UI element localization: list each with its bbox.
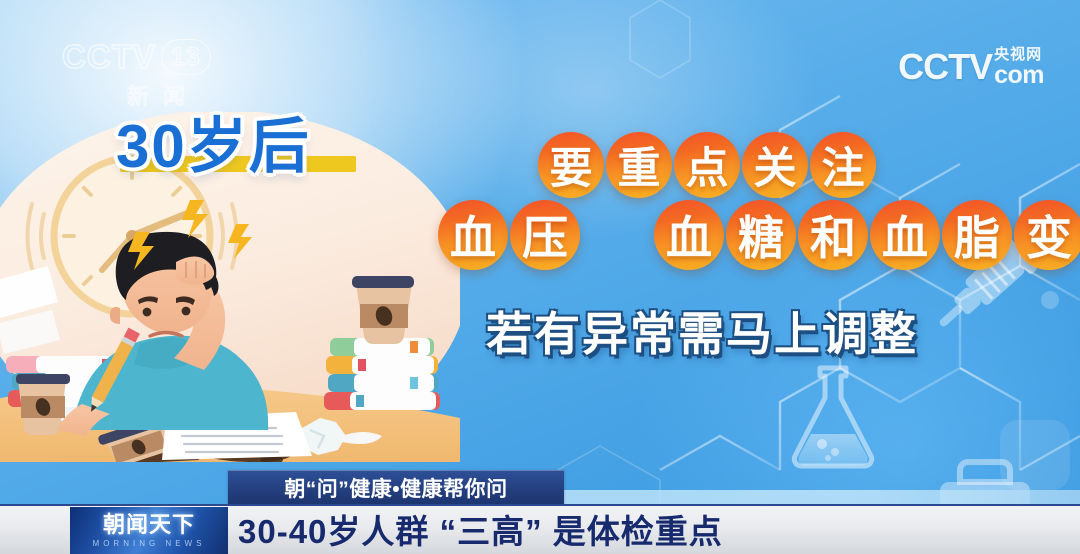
headline-char: 要 [538,132,604,198]
accent-square [1000,420,1070,490]
headline-char-text: 和 [810,202,856,268]
program-logo: 朝闻天下 MORNING NEWS [70,507,228,554]
headline-line2: 血压 血糖和血脂变化 [438,200,1080,270]
watermark-cn-text: 央视网 [994,47,1044,62]
headline-char-text: 压 [522,202,568,268]
cctv13-bug-number: 13 [161,39,211,75]
headline-char-text: 变 [1026,202,1072,268]
headline-char: 血 [438,200,508,270]
headline-char-text: 要 [550,134,593,196]
broadcast-screenshot: CCTV 13 新闻 CCTV 央视网 com 30岁后 要重点关注 血压 血糖… [0,0,1080,554]
headline-char: 重 [606,132,672,198]
sub-banner: 朝“问”健康•健康帮你问 [228,470,564,504]
headline-char-text: 注 [822,134,865,196]
main-headline: 30-40岁人群 “三高” 是体检重点 [238,504,723,554]
program-logo-cn: 朝闻天下 [103,514,195,536]
headline-char: 点 [674,132,740,198]
headline-char: 脂 [942,200,1012,270]
cctv13-bug-cctv: CCTV [62,38,156,76]
headline-line3: 若有异常需马上调整 [486,298,918,364]
headline-char: 和 [798,200,868,270]
headline-char-text: 脂 [954,202,1000,268]
headline-char-text: 血 [882,202,928,268]
headline-char: 注 [810,132,876,198]
headline-char: 变 [1014,200,1080,270]
headline-char: 关 [742,132,808,198]
headline-char-text: 重 [618,134,661,196]
book-stack-right [324,338,440,410]
headline-char: 血 [870,200,940,270]
age-headline-group: 30岁后 [116,98,311,185]
flask-icon [794,368,871,466]
sub-banner-text: 朝“问”健康•健康帮你问 [284,473,507,503]
age-headline-text: 30岁后 [116,98,311,185]
headline-char-text: 血 [450,202,496,268]
watermark-com-text: com [994,63,1044,88]
headline-char-text: 血 [666,202,712,268]
banner-top-strip [564,490,1080,504]
accent-dot [1041,291,1059,309]
watermark-cctv-text: CCTV [898,46,992,88]
headline-char: 糖 [726,200,796,270]
cctv13-bug-row1: CCTV 13 [62,38,252,76]
headline-char-gap [582,200,652,270]
headline-char-text: 糖 [738,202,784,268]
cctv-com-watermark: CCTV 央视网 com [898,44,1044,90]
headline-char: 血 [654,200,724,270]
watermark-right-group: 央视网 com [994,47,1044,88]
headline-char: 压 [510,200,580,270]
headline-char-text: 点 [686,134,729,196]
headline-line1: 要重点关注 [538,132,876,198]
headline-char-text: 关 [754,134,797,196]
program-logo-en: MORNING NEWS [93,539,206,548]
